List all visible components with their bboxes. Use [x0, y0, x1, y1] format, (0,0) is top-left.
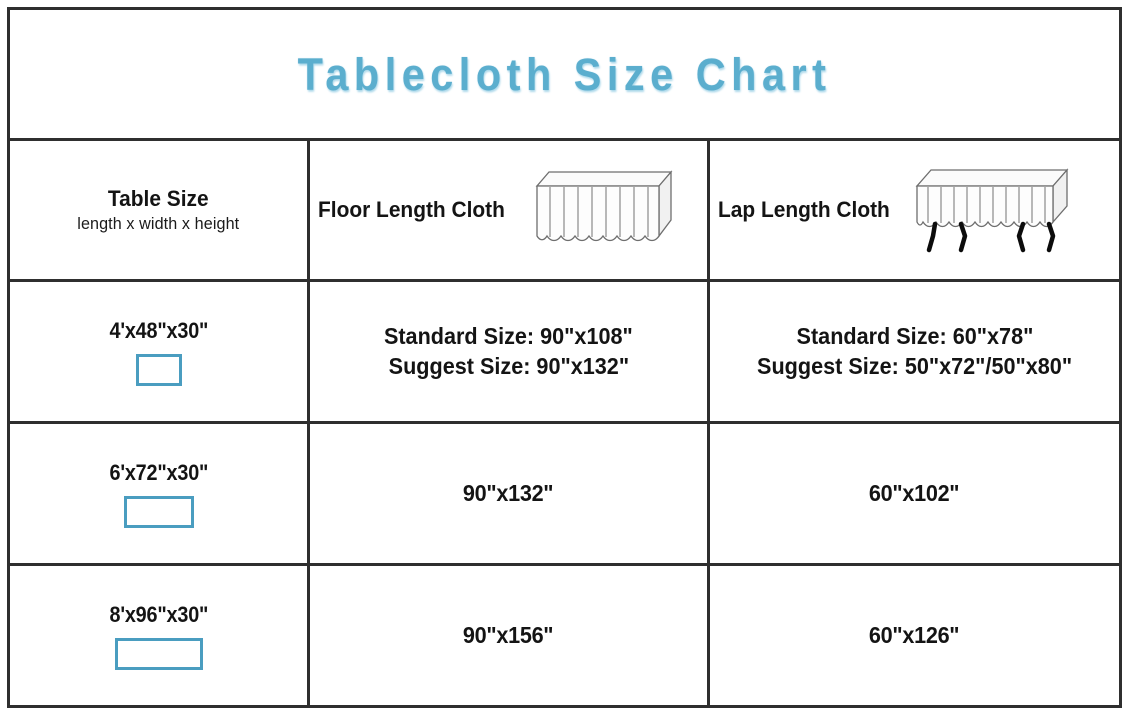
cell-floor-length: 90"x156" [309, 565, 709, 707]
cell-lap-length: 60"x126" [709, 565, 1121, 707]
table-size-value: 8'x96"x30" [109, 602, 208, 628]
cell-lap-length: Standard Size: 60"x78" Suggest Size: 50"… [709, 281, 1121, 423]
cell-floor-length: 90"x132" [309, 423, 709, 565]
cell-floor-length: Standard Size: 90"x108" Suggest Size: 90… [309, 281, 709, 423]
table-shape-icon [115, 638, 203, 670]
table-size-value: 4'x48"x30" [109, 318, 208, 344]
lap-length-value: 60"x102" [869, 479, 959, 509]
header-title-table-size: Table Size [108, 186, 209, 211]
floor-length-suggest: Suggest Size: 90"x132" [388, 352, 628, 382]
floor-length-value: 90"x156" [463, 621, 553, 651]
floor-length-tablecloth-icon [519, 164, 679, 256]
lap-length-suggest: Suggest Size: 50"x72"/50"x80" [757, 352, 1072, 382]
lap-length-value: 60"x126" [869, 621, 959, 651]
lap-length-tablecloth-icon [903, 160, 1083, 260]
page-title: Tablecloth Size Chart [54, 52, 1074, 97]
tablecloth-size-chart: Tablecloth Size Chart Table Size length … [0, 0, 1125, 701]
lap-length-standard: Standard Size: 60"x78" [796, 322, 1033, 352]
header-sublabel-table-size: length x width x height [77, 214, 239, 233]
header-cell-lap-length: Lap Length Cloth [709, 140, 1121, 281]
header-label-table-size: Table Size length x width x height [77, 187, 239, 234]
cell-lap-length: 60"x102" [709, 423, 1121, 565]
title-row: Tablecloth Size Chart [9, 9, 1121, 140]
cell-table-size: 8'x96"x30" [9, 565, 309, 707]
cell-table-size: 4'x48"x30" [9, 281, 309, 423]
table-row: 4'x48"x30" Standard Size: 90"x108" Sugge… [9, 281, 1121, 423]
cell-table-size: 6'x72"x30" [9, 423, 309, 565]
table-size-value: 6'x72"x30" [109, 460, 208, 486]
header-label-lap-length: Lap Length Cloth [718, 198, 890, 223]
header-cell-floor-length: Floor Length Cloth [309, 140, 709, 281]
size-chart-table: Tablecloth Size Chart Table Size length … [7, 7, 1122, 708]
header-cell-table-size: Table Size length x width x height [9, 140, 309, 281]
table-shape-icon [124, 496, 194, 528]
title-cell: Tablecloth Size Chart [9, 9, 1121, 140]
table-row: 6'x72"x30" 90"x132" 60"x102" [9, 423, 1121, 565]
floor-length-standard: Standard Size: 90"x108" [384, 322, 633, 352]
header-row: Table Size length x width x height Floor… [9, 140, 1121, 281]
header-label-floor-length: Floor Length Cloth [318, 198, 505, 223]
table-shape-icon [136, 354, 182, 386]
table-row: 8'x96"x30" 90"x156" 60"x126" [9, 565, 1121, 707]
floor-length-value: 90"x132" [463, 479, 553, 509]
